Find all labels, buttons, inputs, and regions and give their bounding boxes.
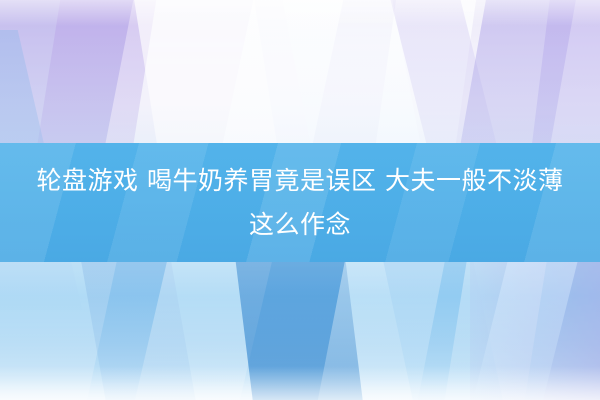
banner-image: 轮盘游戏 喝牛奶养胃竟是误区 大夫一般不淡薄 这么作念	[0, 0, 600, 400]
caption-line-2: 这么作念	[249, 203, 351, 247]
top-haze-overlay	[0, 0, 600, 26]
caption-band: 轮盘游戏 喝牛奶养胃竟是误区 大夫一般不淡薄 这么作念	[0, 143, 600, 262]
bottom-haze-overlay	[0, 366, 600, 400]
caption-line-1: 轮盘游戏 喝牛奶养胃竟是误区 大夫一般不淡薄	[37, 159, 564, 203]
